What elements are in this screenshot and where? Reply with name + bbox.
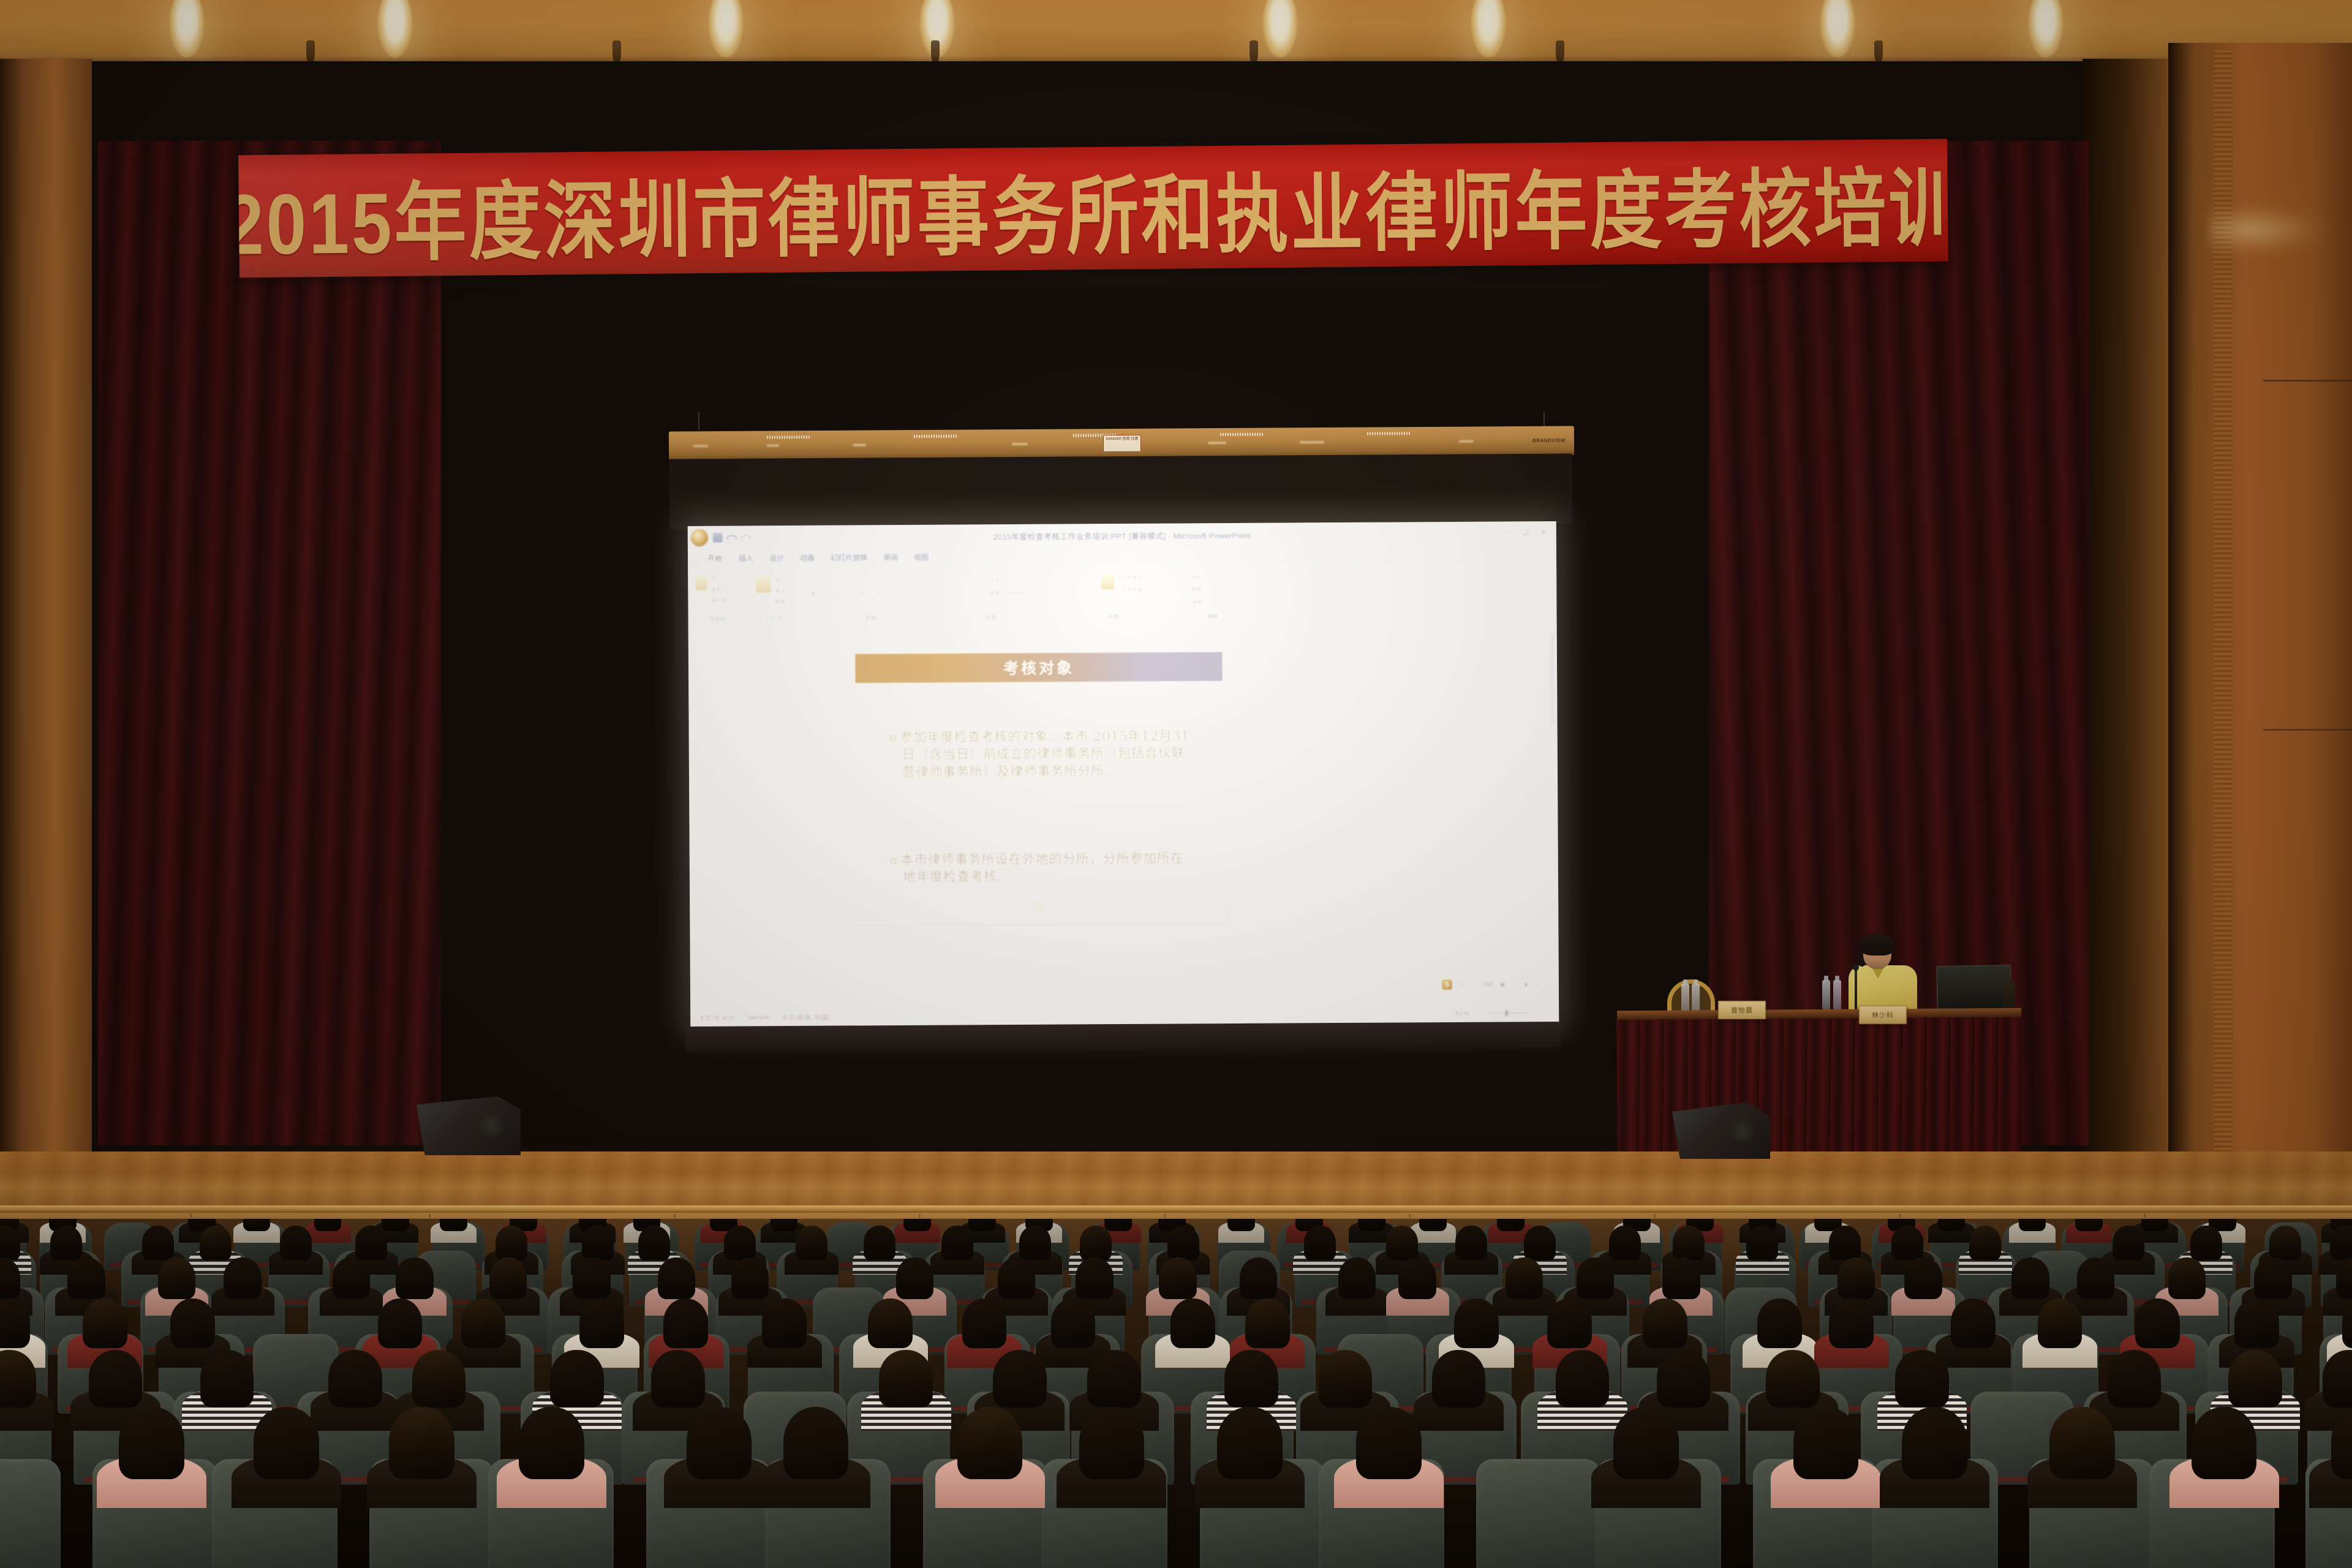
shadow-icon[interactable]: S — [846, 590, 850, 596]
attendee-head — [771, 1219, 798, 1231]
panel-icon[interactable]: ▣ — [1499, 980, 1506, 988]
screen-bottom-bar — [686, 1022, 1561, 1052]
attendee-head — [2269, 1226, 2301, 1261]
sogou-ime-toolbar[interactable]: S 中 ☽ ⌨ ▣ ◁ ♟ ⚲ — [1436, 976, 1545, 992]
attendee-head — [1757, 1298, 1802, 1348]
save-icon[interactable] — [713, 533, 723, 543]
zoom-out-icon[interactable] — [1474, 1009, 1482, 1017]
warning-label: DANGER 危险 注意 — [1103, 435, 1141, 452]
shape-circle-icon[interactable] — [1049, 584, 1058, 592]
tools-icon[interactable]: ⚲ — [1535, 980, 1540, 988]
view-slideshow-icon[interactable] — [1442, 1009, 1450, 1017]
powerpoint-window[interactable]: 2015年度检查考核工作业务培训.PPT [兼容模式] - Microsoft … — [688, 521, 1559, 1028]
quick-styles-icon[interactable] — [1101, 574, 1114, 590]
pillar-right — [2082, 59, 2171, 1161]
attendee-head — [1613, 1407, 1679, 1479]
line-spacing-icon[interactable] — [971, 588, 982, 597]
language-indicator[interactable]: 中文(简体, 中国) — [782, 1012, 831, 1022]
keyboard-icon[interactable]: ⌨ — [1483, 980, 1493, 988]
tab-view[interactable]: 视图 — [906, 549, 937, 564]
screen-hanging-wire — [698, 412, 699, 430]
shape-rect-icon[interactable] — [1049, 573, 1058, 581]
zoom-level[interactable]: 61% — [1455, 1009, 1469, 1017]
bold-icon[interactable]: B — [812, 590, 815, 597]
attendee-head — [1497, 1219, 1525, 1231]
attendee-head — [224, 1257, 261, 1299]
brand-label: BRANDVIEW — [1532, 438, 1566, 443]
projection-screen: 2015年度检查考核工作业务培训.PPT [兼容模式] - Microsoft … — [688, 521, 1559, 1028]
attendee-head — [638, 1226, 670, 1261]
attendee-head — [314, 1219, 342, 1231]
seat — [0, 1459, 61, 1568]
attendee-head — [2011, 1257, 2049, 1299]
attendee-head — [1358, 1219, 1385, 1231]
shape-outline-label[interactable]: 形状轮廓 — [1121, 586, 1142, 594]
group-name-paragraph: 段落 — [938, 613, 1043, 622]
attendee-head — [2234, 1298, 2279, 1348]
attendee-head — [328, 1350, 382, 1408]
delete-label[interactable]: 删除 — [775, 598, 785, 605]
slide-bullet-1: 参加年度检查考核的对象：本市 2015年12月31日（含当日）前成立的律师事务所… — [889, 728, 1195, 782]
attendee-head — [1080, 1226, 1112, 1261]
attendee-head — [496, 1226, 527, 1261]
attendee-head — [2038, 1298, 2082, 1348]
attendee-head — [1938, 1219, 1966, 1231]
attendee-head — [280, 1226, 312, 1261]
slide-editing-canvas[interactable]: 考核对象 参加年度检查考核的对象：本市 2015年12月31日（含当日）前成立的… — [757, 628, 1544, 1006]
slide-title-text: 考核对象 — [1003, 656, 1074, 679]
ribbon-group-drawing: 形状填充 形状轮廓 绘图 — [1044, 566, 1183, 620]
window-controls[interactable]: — ❑ ✕ — [1502, 527, 1551, 536]
fit-to-window-icon[interactable] — [1545, 1009, 1553, 1017]
shape-star-icon[interactable] — [1071, 584, 1080, 591]
change-case-icon[interactable]: Aa — [876, 590, 883, 596]
redo-icon[interactable] — [741, 535, 751, 540]
attendee-head — [158, 1257, 195, 1299]
attendee-head — [962, 1298, 1007, 1348]
voice-icon[interactable]: ◁ — [1512, 980, 1517, 988]
attendee-head — [724, 1226, 756, 1261]
attendee-head — [412, 1350, 466, 1408]
attendee-head — [1356, 1407, 1422, 1479]
tab-animations[interactable]: 动画 — [792, 549, 823, 565]
attendee-head — [2049, 1407, 2115, 1479]
attendee-head — [89, 1350, 142, 1408]
event-banner: 2015年度深圳市律师事务所和执业律师年度考核培训 — [238, 139, 1948, 278]
screen-top-masking — [669, 453, 1573, 529]
attendee-head — [1338, 1257, 1376, 1299]
attendee-head — [903, 1219, 931, 1231]
select-label[interactable]: 选择 — [1191, 598, 1202, 605]
shape-banner-icon[interactable] — [1082, 584, 1091, 591]
attendee-head — [663, 1298, 708, 1348]
paste-icon[interactable] — [695, 575, 707, 591]
ribbon[interactable]: 剪切 复制 格式刷 剪贴板 版式 重设 删除 幻灯片 B I U S AV A — [688, 562, 1557, 633]
attendee-head — [1304, 1226, 1336, 1261]
shape-line-icon[interactable] — [1082, 573, 1091, 580]
attendee-head — [658, 1257, 695, 1299]
view-normal-icon[interactable] — [1417, 1009, 1425, 1017]
attendee-head — [1547, 1298, 1592, 1348]
attendee-head — [440, 1219, 467, 1231]
attendee-head — [2228, 1350, 2282, 1408]
undo-icon[interactable] — [727, 535, 737, 540]
attendee-head — [1227, 1219, 1255, 1231]
attendee-head — [1746, 1226, 1778, 1261]
attendee-head — [2254, 1257, 2291, 1299]
attendee-head — [2108, 1350, 2161, 1408]
moon-icon[interactable]: ☽ — [1471, 980, 1477, 988]
attendee-head — [1673, 1226, 1705, 1261]
attendee-head — [1902, 1407, 1967, 1479]
name-card: 曾怡晨 — [1718, 1001, 1766, 1019]
canvas-scrollbar[interactable] — [1545, 631, 1556, 998]
attendee-head — [1609, 1226, 1641, 1261]
attendee-head — [119, 1407, 184, 1479]
office-button-icon[interactable] — [690, 529, 709, 547]
attendee-head — [1019, 1226, 1051, 1261]
water-bottle — [1681, 984, 1689, 1013]
attendee-head — [142, 1226, 174, 1261]
format-painter-label[interactable]: 格式刷 — [711, 597, 727, 605]
attendee-head — [2192, 1407, 2257, 1479]
attendee-head — [1240, 1257, 1277, 1299]
name-card: 林少科 — [1859, 1006, 1907, 1024]
attendee-head — [200, 1350, 254, 1408]
group-name-clipboard: 剪贴板 — [692, 614, 744, 622]
italic-icon[interactable]: I — [823, 590, 824, 597]
bullets-icon[interactable] — [943, 575, 954, 584]
slide-bullet-2: 本市律师事务所设在外地的分所，分所参加所在地年度检查考核。 — [889, 850, 1196, 887]
attendee-head — [879, 1350, 932, 1408]
ribbon-group-editing: 查找 替换 选择 编辑 — [1184, 566, 1240, 620]
copy-label[interactable]: 复制 — [711, 586, 722, 594]
attendee-head — [1079, 1407, 1145, 1479]
text-direction-label[interactable]: 文字方向 — [989, 576, 1010, 583]
attendee-head — [731, 1257, 769, 1299]
attendee-head — [2113, 1226, 2144, 1261]
stage-curtain-left — [98, 141, 441, 1145]
attendee-head — [1076, 1257, 1113, 1299]
attendee-head — [687, 1407, 752, 1479]
reset-label[interactable]: 重设 — [775, 587, 785, 594]
attendee-head — [993, 1350, 1046, 1408]
tab-insert[interactable]: 插入 — [731, 550, 761, 565]
convert-smartart-label[interactable]: 转换为 SmartArt — [989, 589, 1027, 597]
attendee-head — [783, 1407, 849, 1479]
attendee-head — [1167, 1226, 1199, 1261]
numbering-icon[interactable] — [956, 575, 967, 583]
seat — [1476, 1459, 1602, 1568]
current-slide[interactable]: 考核对象 参加年度检查考核的对象：本市 2015年12月31日（含当日）前成立的… — [850, 635, 1227, 924]
attendee-head — [1319, 1350, 1372, 1408]
attendee-head — [1766, 1350, 1819, 1408]
attendee-head — [1104, 1219, 1132, 1231]
replace-label[interactable]: 替换 — [1191, 586, 1202, 593]
attendee-head — [579, 1298, 624, 1348]
attendee-head — [389, 1407, 454, 1479]
cut-label[interactable]: 剪切 — [711, 575, 722, 582]
group-name-drawing: 绘图 — [1045, 612, 1183, 620]
stage-edge-trim — [0, 1205, 2352, 1213]
stage-monitor-speaker — [417, 1096, 521, 1155]
attendee-head — [1556, 1350, 1609, 1408]
attendee-head — [1829, 1226, 1861, 1261]
attendee-head — [796, 1226, 827, 1261]
group-name-editing: 编辑 — [1185, 612, 1241, 620]
attendee-head — [582, 1226, 614, 1261]
view-sorter-icon[interactable] — [1430, 1009, 1438, 1017]
attendee-head — [1170, 1298, 1215, 1348]
tab-design[interactable]: 设计 — [761, 550, 792, 565]
attendee-head — [1506, 1257, 1543, 1299]
zoom-in-icon[interactable] — [1532, 1009, 1540, 1017]
font-size-combo[interactable] — [880, 575, 908, 585]
attendee-head — [1159, 1257, 1196, 1299]
water-bottle — [1692, 984, 1700, 1013]
attendee-head — [1891, 1226, 1923, 1261]
attendee-head — [396, 1257, 433, 1299]
shape-oval-icon[interactable] — [1071, 573, 1080, 580]
attendee-head — [243, 1219, 271, 1231]
shape-arrow-icon[interactable] — [1060, 584, 1069, 591]
presenter-hair — [1860, 933, 1895, 956]
shape-rounded-icon[interactable] — [1060, 573, 1069, 580]
attendee-head — [1386, 1226, 1418, 1261]
attendee-head — [550, 1350, 603, 1408]
theme-name: "sample" — [745, 1014, 772, 1021]
status-bar-right[interactable]: 61% — [1417, 1009, 1553, 1017]
audience-area — [0, 1219, 2352, 1568]
attendee-head — [489, 1257, 527, 1299]
ppt-document-title: 2015年度检查考核工作业务培训.PPT [兼容模式] - Microsoft … — [993, 529, 1251, 541]
attendee-head — [1895, 1350, 1948, 1408]
ribbon-group-font: B I U S AV Aa 字体 — [804, 568, 937, 622]
wall-light-reflection — [2208, 202, 2331, 257]
group-name-font: 字体 — [805, 614, 937, 622]
stage-monitor-speaker — [1672, 1102, 1770, 1159]
attendee-head — [941, 1226, 973, 1261]
attendee-head — [651, 1350, 704, 1408]
attendee-head — [1087, 1350, 1140, 1408]
attendee-head — [200, 1226, 232, 1261]
scrollbar-thumb[interactable] — [1546, 633, 1555, 725]
align-center-icon[interactable] — [956, 588, 967, 597]
tab-home[interactable]: 开始 — [699, 550, 731, 566]
indent-icon[interactable] — [971, 575, 982, 583]
attendee-head — [382, 1219, 409, 1231]
sogou-logo-icon[interactable]: S — [1442, 979, 1452, 990]
attendee-head — [519, 1407, 584, 1479]
slide-counter: 幻灯片 4/20 — [700, 1012, 736, 1022]
slide-title-band: 考核对象 — [855, 652, 1223, 683]
attendee-head — [1051, 1298, 1096, 1348]
attendee-head — [2019, 1219, 2046, 1231]
attendee-head — [378, 1298, 423, 1348]
slide-footer-logo — [1033, 900, 1045, 913]
attendee-head — [1643, 1298, 1687, 1348]
attendee-head — [957, 1407, 1023, 1479]
new-slide-icon[interactable] — [755, 575, 771, 593]
attendee-head — [968, 1219, 996, 1231]
attendee-head — [762, 1298, 807, 1348]
font-name-combo[interactable] — [810, 575, 876, 586]
attendee-head — [461, 1298, 506, 1348]
find-label[interactable]: 查找 — [1191, 573, 1202, 581]
attendee-head — [868, 1298, 913, 1348]
attendee-head — [1829, 1298, 1874, 1348]
attendee-head — [1432, 1350, 1485, 1408]
attendee-head — [1838, 1257, 1875, 1299]
attendee-head — [170, 1298, 215, 1348]
shape-fill-label[interactable]: 形状填充 — [1121, 574, 1142, 581]
attendee-head — [1454, 1298, 1499, 1348]
attendee-head — [2077, 1257, 2114, 1299]
attendee-head — [1969, 1226, 2001, 1261]
ribbon-group-clipboard: 剪切 复制 格式刷 剪贴板 — [692, 568, 744, 622]
attendee-head — [50, 1226, 82, 1261]
attendee-head — [1904, 1257, 1942, 1299]
laptop-screen — [1936, 965, 2011, 1015]
attendee-head — [333, 1257, 370, 1299]
banner-title: 2015年度深圳市律师事务所和执业律师年度考核培训 — [238, 139, 1948, 278]
attendee-head — [573, 1257, 610, 1299]
side-wall-left — [0, 59, 92, 1155]
attendee-head — [254, 1407, 319, 1479]
attendee-head — [67, 1257, 105, 1299]
water-bottle — [1822, 980, 1830, 1009]
tab-slideshow[interactable]: 幻灯片放映 — [823, 549, 875, 565]
attendee-head — [1662, 1257, 1700, 1299]
attendee-head — [1398, 1257, 1436, 1299]
attendee-head — [1455, 1226, 1487, 1261]
group-name-slides: 幻灯片 — [746, 614, 803, 623]
wall-seam — [2263, 729, 2352, 731]
attendee-head — [896, 1257, 933, 1299]
align-left-icon[interactable] — [943, 589, 954, 597]
attendee-head — [2190, 1226, 2222, 1261]
layout-label[interactable]: 版式 — [775, 576, 785, 583]
char-spacing-icon[interactable]: AV — [859, 590, 866, 596]
skin-icon[interactable]: ♟ — [1523, 980, 1529, 988]
wall-seam — [2263, 380, 2352, 382]
attendee-head — [1577, 1257, 1614, 1299]
attendee-head — [998, 1257, 1035, 1299]
water-bottle — [1833, 980, 1841, 1009]
attendee-head — [2135, 1298, 2180, 1348]
attendee-head — [355, 1226, 387, 1261]
attendee-head — [2168, 1257, 2206, 1299]
underline-icon[interactable]: U — [834, 590, 837, 597]
attendee-head — [2075, 1219, 2103, 1231]
attendee-head — [1524, 1226, 1556, 1261]
ribbon-group-paragraph: 文字方向 转换为 SmartArt 段落 — [938, 567, 1043, 622]
ribbon-group-slides: 版式 重设 删除 幻灯片 — [745, 568, 803, 623]
attendee-head — [83, 1298, 127, 1348]
attendee-head — [1224, 1350, 1278, 1408]
tab-review[interactable]: 审阅 — [875, 549, 906, 564]
attendee-head — [1793, 1407, 1859, 1479]
chinese-mode-icon[interactable]: 中 — [1458, 979, 1465, 989]
attendee-head — [1217, 1407, 1283, 1479]
attendee-head — [1951, 1298, 1996, 1348]
attendee-head — [2141, 1219, 2169, 1231]
attendee-head — [864, 1226, 895, 1261]
attendee-head — [1657, 1350, 1710, 1408]
attendee-head — [1245, 1298, 1290, 1348]
attendee-head — [1419, 1219, 1447, 1231]
zoom-slider[interactable] — [1487, 1012, 1527, 1014]
